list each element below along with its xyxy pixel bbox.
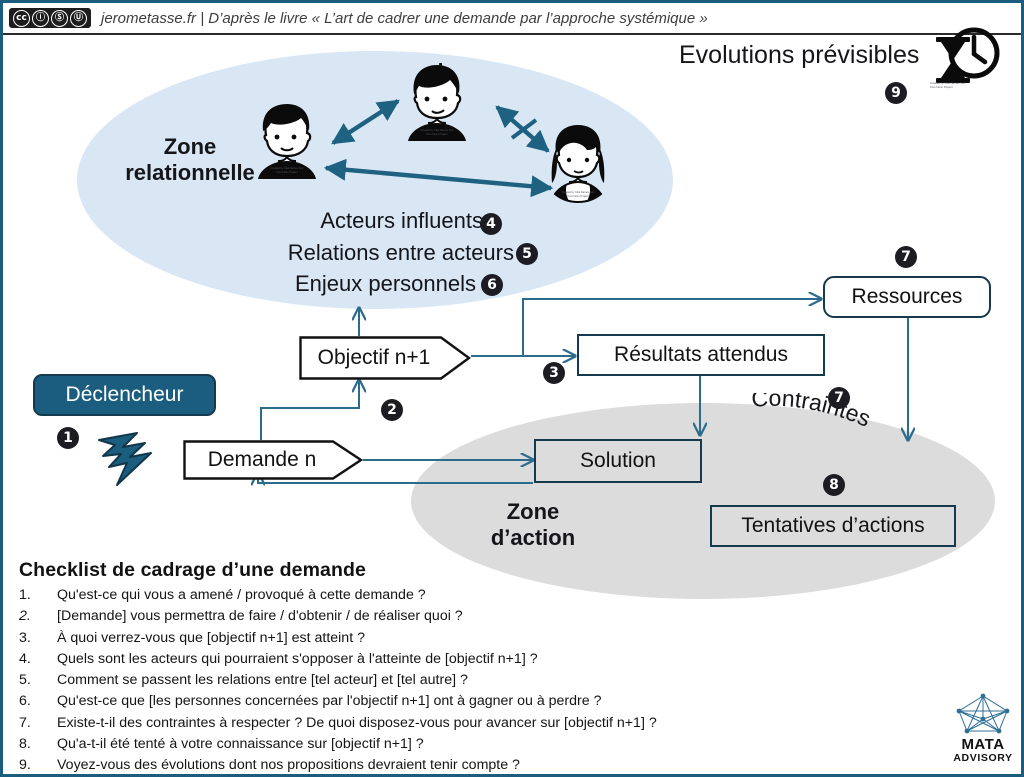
network-nodes-icon [949, 693, 1017, 737]
person-right-credit: Created by Clик Names Serifrom Noun Proj… [562, 191, 595, 199]
checklist-item-number: 3. [19, 628, 57, 649]
node-solution-label: Solution [580, 449, 656, 473]
checklist-item-text: Existe-t-il des contraintes à respecter … [57, 713, 657, 734]
hourglass-credit: Created by Clик Names Serifrom Noun Proj… [930, 81, 965, 89]
badge-3: 3 [543, 362, 565, 384]
checklist-item: 3. À quoi verrez-vous que [objectif n+1]… [19, 628, 809, 649]
zone-relationnelle-label-line2: relationnelle [125, 160, 255, 185]
zone-action-label-line2: d’action [491, 525, 575, 550]
node-objectif-n1-label: Objectif n+1 [318, 346, 453, 370]
node-ressources-label: Ressources [852, 285, 963, 309]
checklist-item-text: À quoi verrez-vous que [objectif n+1] es… [57, 628, 365, 649]
relational-item-relations-entre-acteurs: Relations entre acteurs [183, 240, 514, 266]
checklist-item-number: 4. [19, 649, 57, 670]
node-tentatives-actions[interactable]: Tentatives d’actions [710, 505, 956, 547]
person-top-avatar: Created by Clик Names Serifrom Noun Proj… [396, 63, 478, 141]
person-left-credit: Created by Clик Names Serifrom Noun Proj… [271, 167, 304, 175]
checklist-item-text: Qu'est-ce qui vous a amené / provoqué à … [57, 585, 426, 606]
checklist-item-text: Qu'a-t-il été tenté à votre connaissance… [57, 734, 424, 755]
checklist-panel: Checklist de cadrage d’une demande 1. Qu… [19, 559, 809, 777]
checklist-item-text: Comment se passent les relations entre [… [57, 670, 468, 691]
zone-action-label: Zone d’action [473, 499, 593, 551]
badge-7-ressources: 7 [895, 246, 917, 268]
checklist-item-number: 1. [19, 585, 57, 606]
checklist-item: 1. Qu'est-ce qui vous a amené / provoqué… [19, 585, 809, 606]
checklist-item: 4. Quels sont les acteurs qui pourraient… [19, 649, 809, 670]
node-tentatives-actions-label: Tentatives d’actions [741, 514, 924, 538]
node-solution[interactable]: Solution [534, 439, 702, 483]
checklist-item: 8. Qu'a-t-il été tenté à votre connaissa… [19, 734, 809, 755]
mata-advisory-logo: MATA ADVISORY [949, 693, 1017, 773]
node-declencheur-label: Déclencheur [66, 383, 184, 407]
relational-item-enjeux-personnels: Enjeux personnels [183, 271, 476, 297]
node-demande-n-label: Demande n [208, 448, 339, 472]
logo-subtitle: ADVISORY [949, 753, 1017, 764]
checklist-title: Checklist de cadrage d’une demande [19, 559, 809, 582]
person-left-avatar: Created by Clик Names Serifrom Noun Proj… [246, 101, 328, 179]
checklist-item-text: Qu'est-ce que [les personnes concernées … [57, 691, 602, 712]
checklist-item-text: Voyez-vous des évolutions dont nos propo… [57, 755, 520, 776]
badge-5: 5 [516, 243, 538, 265]
node-ressources[interactable]: Ressources [823, 276, 991, 318]
diagram-canvas: cc ⓘ Ⓢ Ⓤ BY NC SA jerometasse.fr | D’apr… [0, 0, 1024, 777]
hourglass-clock-icon: Created by Clик Names Serifrom Noun Proj… [928, 25, 1002, 95]
checklist-item-number: 7. [19, 713, 57, 734]
zone-action-label-line1: Zone [507, 499, 560, 524]
checklist-item: 7. Existe-t-il des contraintes à respect… [19, 713, 809, 734]
checklist-item: 5. Comment se passent les relations entr… [19, 670, 809, 691]
relational-item-acteurs-influents: Acteurs influents [183, 208, 483, 234]
person-right-avatar: Created by Clик Names Serifrom Noun Proj… [537, 123, 619, 203]
checklist-item-number: 5. [19, 670, 57, 691]
checklist-item-text: Quels sont les acteurs qui pourraient s'… [57, 649, 538, 670]
checklist-item: 9. Voyez-vous des évolutions dont nos pr… [19, 755, 809, 776]
checklist-item: 6. Qu'est-ce que [les personnes concerné… [19, 691, 809, 712]
logo-name: MATA [949, 737, 1017, 752]
badge-1: 1 [57, 427, 79, 449]
badge-9: 9 [885, 82, 907, 104]
node-resultats-attendus-label: Résultats attendus [614, 343, 788, 367]
lightning-bolt-icon [93, 430, 169, 488]
checklist-item-number: 2. [19, 606, 57, 627]
checklist-list: 1. Qu'est-ce qui vous a amené / provoqué… [19, 585, 809, 777]
badge-7-contraintes: 7 [828, 387, 850, 409]
svg-text:Contraintes: Contraintes [750, 393, 874, 432]
node-demande-n[interactable]: Demande n [183, 440, 363, 480]
badge-6: 6 [481, 274, 503, 296]
checklist-item-text: [Demande] vous permettra de faire / d'ob… [57, 606, 463, 627]
checklist-item: 2. [Demande] vous permettra de faire / d… [19, 606, 809, 627]
node-objectif-n1[interactable]: Objectif n+1 [299, 336, 471, 380]
node-declencheur[interactable]: Déclencheur [33, 374, 216, 416]
badge-8: 8 [823, 474, 845, 496]
badge-2: 2 [381, 399, 403, 421]
checklist-item-number: 6. [19, 691, 57, 712]
badge-4: 4 [480, 213, 502, 235]
person-top-credit: Created by Clик Names Serifrom Noun Proj… [421, 129, 454, 137]
node-resultats-attendus[interactable]: Résultats attendus [577, 334, 825, 376]
checklist-item-number: 8. [19, 734, 57, 755]
zone-relationnelle-label-line1: Zone [164, 134, 217, 159]
evolutions-previsibles-label: Evolutions prévisibles [679, 41, 919, 70]
checklist-item-number: 9. [19, 755, 57, 776]
